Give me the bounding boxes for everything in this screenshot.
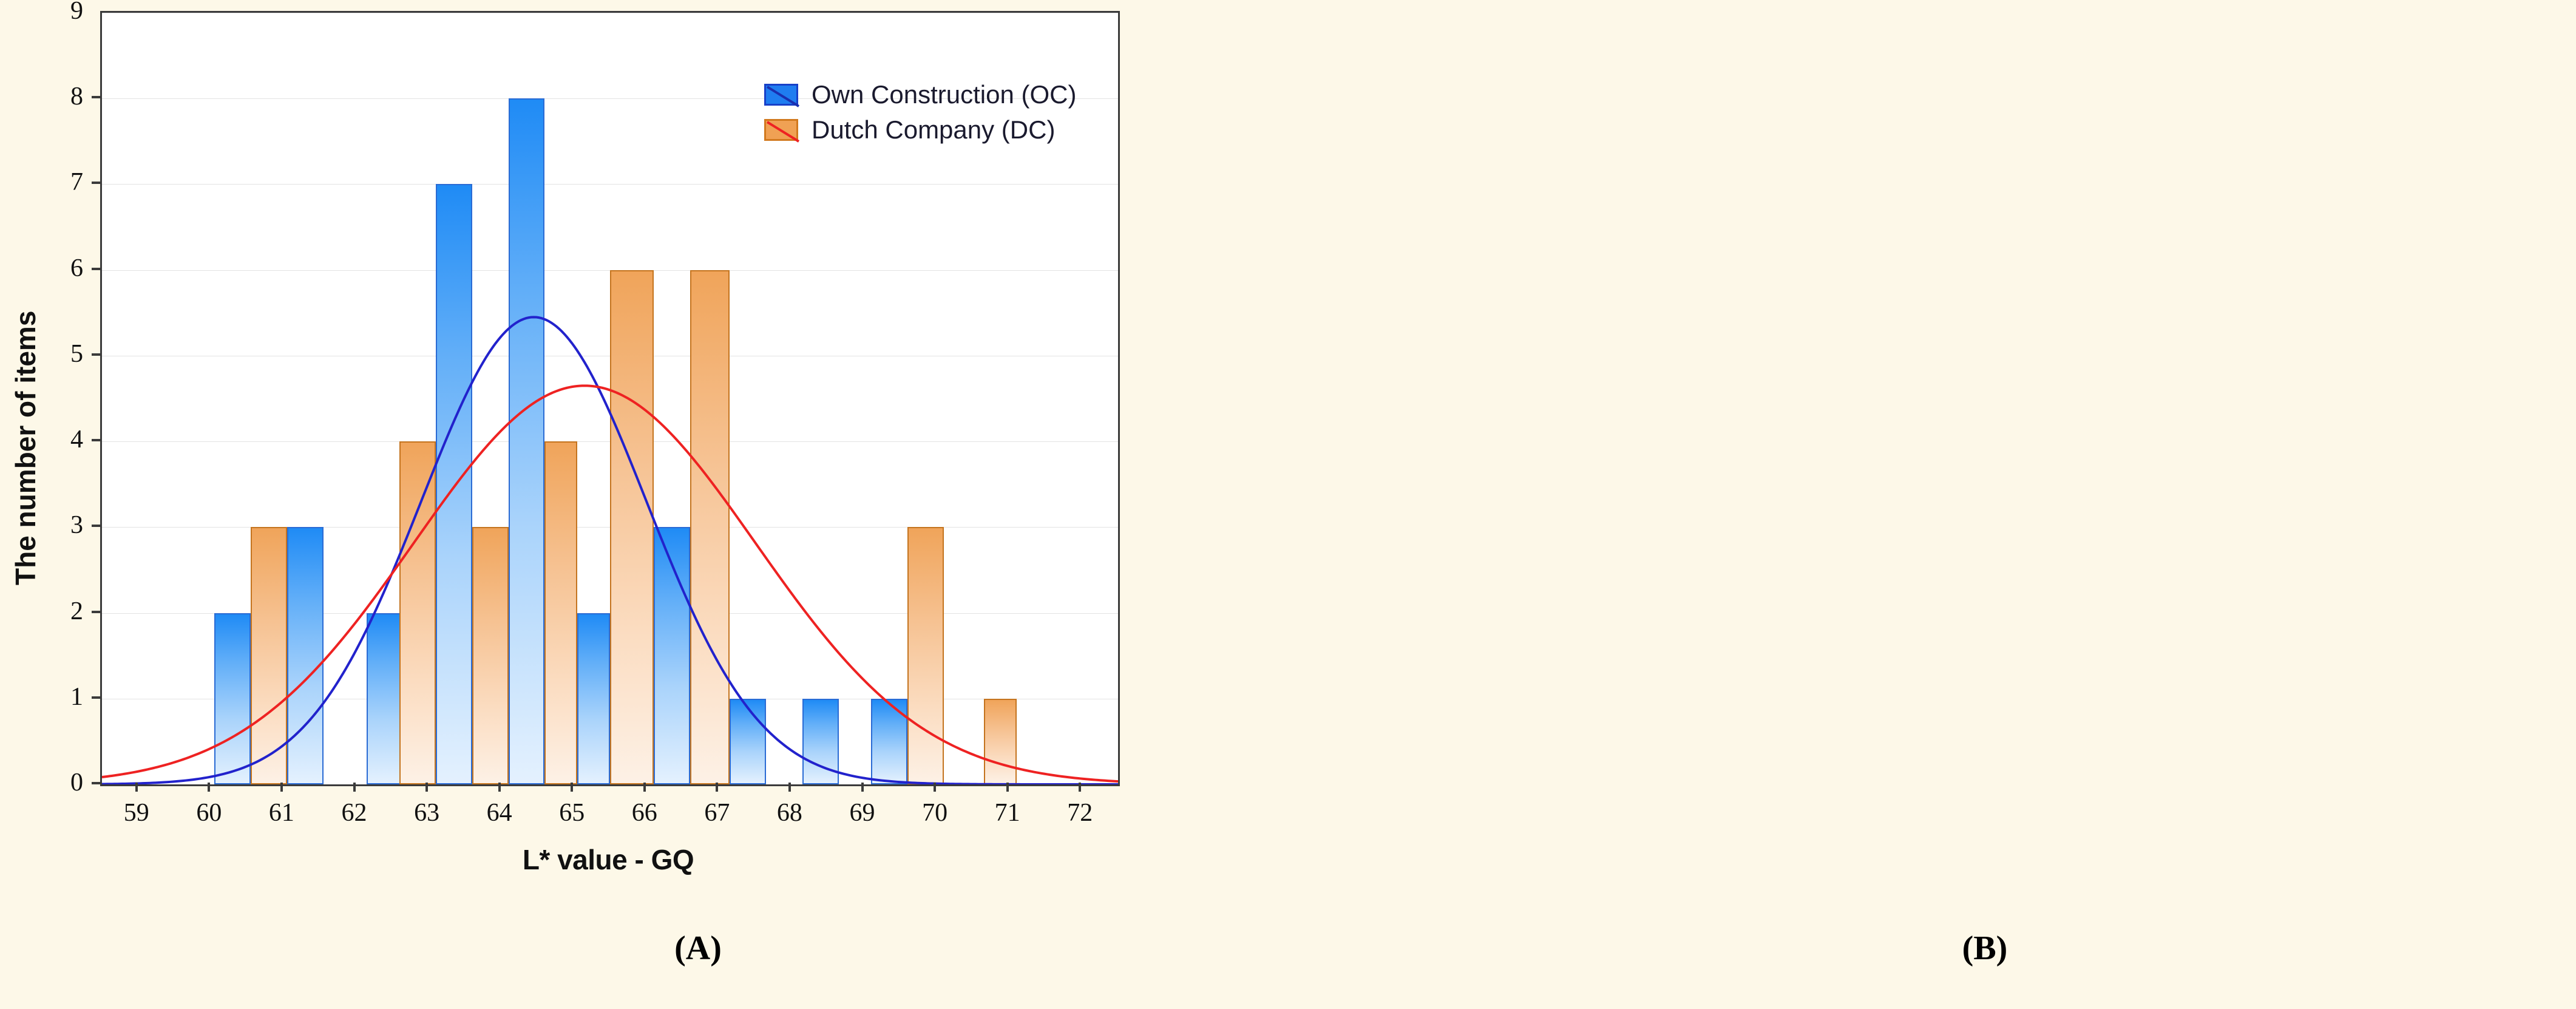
x-tick-label: 63 <box>390 798 463 827</box>
legend-label-dc: Dutch Company (DC) <box>812 115 1055 144</box>
x-tick-label: 66 <box>608 798 681 827</box>
chart-panel-a: 0123456789 5960616263646566676869707172 … <box>0 0 1293 899</box>
x-tick-label: 67 <box>680 798 753 827</box>
x-tick-label: 62 <box>318 798 391 827</box>
x-tick-label: 60 <box>172 798 245 827</box>
caption-b: (B) <box>1894 929 2076 968</box>
y-tick-mark <box>92 696 100 699</box>
y-tick-label: 6 <box>29 254 83 283</box>
y-tick-mark <box>92 96 100 98</box>
bar-oc-2 <box>577 613 610 784</box>
x-tick-mark <box>135 783 138 792</box>
bar-oc-2 <box>214 613 251 784</box>
legend-a[interactable]: Own Construction (OC)Dutch Company (DC) <box>764 80 1076 151</box>
bar-oc-8 <box>509 98 545 784</box>
x-tick-mark <box>1079 783 1081 792</box>
legend-swatch-dc-icon <box>764 119 798 141</box>
x-tick-label: 68 <box>753 798 826 827</box>
chart-panel-b: 024681012 404244464850525456586062646668… <box>1293 0 2576 899</box>
x-tick-label: 61 <box>245 798 318 827</box>
legend-label-oc: Own Construction (OC) <box>812 80 1076 109</box>
bar-oc-1 <box>802 699 839 784</box>
bar-dc-6 <box>610 270 654 784</box>
y-tick-label: 7 <box>29 168 83 197</box>
x-tick-mark <box>353 783 356 792</box>
x-tick-mark <box>208 783 210 792</box>
y-tick-label: 1 <box>29 682 83 712</box>
y-tick-mark <box>92 439 100 441</box>
bar-oc-1 <box>730 699 766 784</box>
legend-item-dc[interactable]: Dutch Company (DC) <box>764 115 1076 144</box>
x-tick-label: 65 <box>535 798 608 827</box>
bar-dc-4 <box>399 441 436 784</box>
bar-dc-3 <box>472 527 509 784</box>
y-tick-mark <box>92 525 100 527</box>
x-tick-mark <box>498 783 501 792</box>
bar-oc-3 <box>287 527 324 784</box>
panel-b-background <box>1293 0 2576 899</box>
bar-dc-3 <box>251 527 287 784</box>
x-tick-label: 69 <box>826 798 899 827</box>
y-tick-mark <box>92 182 100 184</box>
y-tick-mark <box>92 611 100 613</box>
bar-dc-6 <box>690 270 730 784</box>
x-tick-mark <box>1006 783 1009 792</box>
bar-dc-4 <box>544 441 577 784</box>
x-tick-label: 70 <box>898 798 971 827</box>
x-tick-mark <box>788 783 791 792</box>
bar-oc-7 <box>436 184 472 784</box>
y-tick-mark <box>92 782 100 784</box>
y-tick-label: 8 <box>29 82 83 111</box>
bar-dc-3 <box>907 527 944 784</box>
bar-oc-1 <box>871 699 907 784</box>
gridline <box>102 13 1118 13</box>
x-tick-label: 71 <box>971 798 1044 827</box>
bar-oc-2 <box>367 613 403 784</box>
y-axis-title-a: The number of items <box>9 310 42 585</box>
y-tick-label: 9 <box>29 0 83 25</box>
x-tick-mark <box>571 783 573 792</box>
x-tick-label: 64 <box>463 798 536 827</box>
y-tick-label: 2 <box>29 597 83 626</box>
x-tick-mark <box>861 783 864 792</box>
y-tick-mark <box>92 268 100 270</box>
x-tick-mark <box>934 783 936 792</box>
x-tick-mark <box>280 783 283 792</box>
gridline <box>102 184 1118 185</box>
x-tick-label: 72 <box>1043 798 1116 827</box>
caption-a: (A) <box>607 929 789 968</box>
bar-dc-1 <box>984 699 1017 784</box>
x-tick-mark <box>425 783 428 792</box>
x-tick-mark <box>716 783 718 792</box>
bar-oc-3 <box>654 527 690 784</box>
x-axis-title-a: L* value - GQ <box>100 843 1116 876</box>
y-tick-mark <box>92 353 100 356</box>
x-tick-label: 59 <box>100 798 173 827</box>
legend-item-oc[interactable]: Own Construction (OC) <box>764 80 1076 109</box>
y-tick-label: 0 <box>29 768 83 797</box>
legend-swatch-oc-icon <box>764 84 798 106</box>
figure-root: 0123456789 5960616263646566676869707172 … <box>0 0 2576 1009</box>
x-tick-mark <box>643 783 646 792</box>
